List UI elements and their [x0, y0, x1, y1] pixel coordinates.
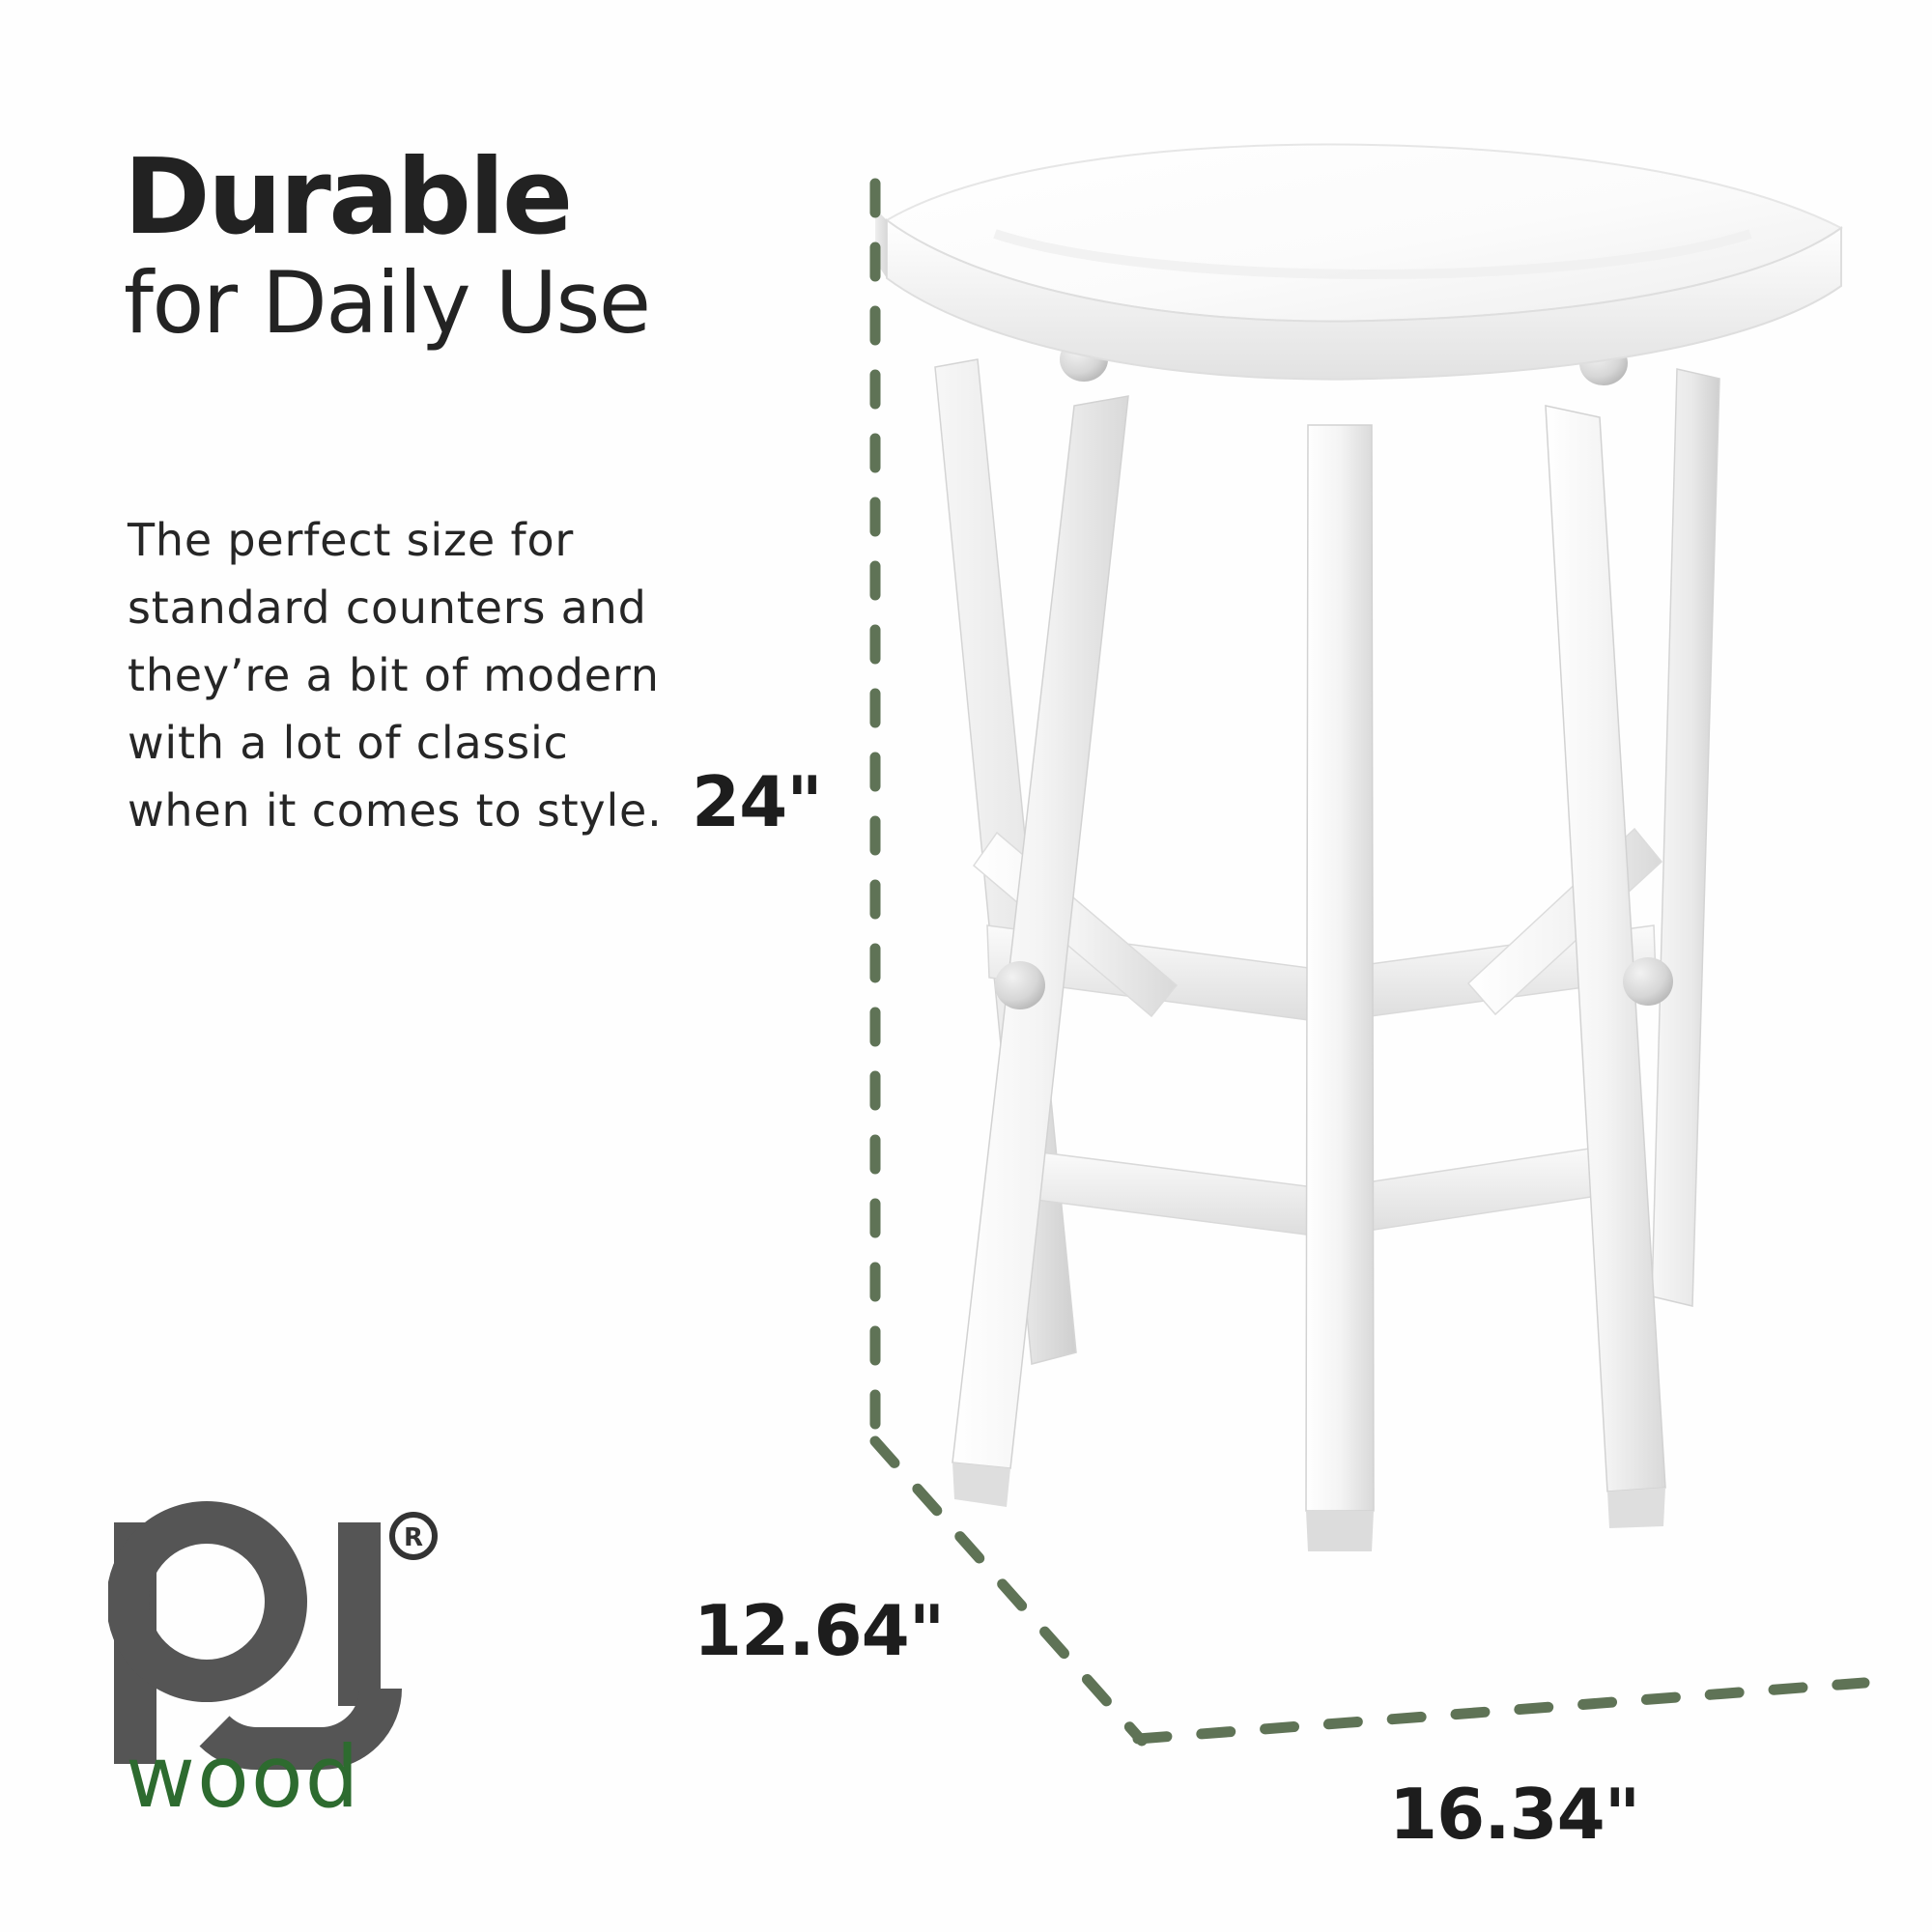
- page-subtitle: for Daily Use: [124, 257, 858, 349]
- saddle-seat: [875, 145, 1841, 380]
- logo-wordmark: wood: [126, 1727, 361, 1814]
- bolt-cap-icon: [995, 961, 1045, 1009]
- registered-trademark-icon: R: [392, 1515, 435, 1557]
- dimension-label-width: 16.34": [1389, 1774, 1639, 1855]
- dimension-label-height: 24": [692, 761, 822, 842]
- brand-logo: R wood: [108, 1495, 456, 1814]
- product-image-bar-stool: [869, 116, 1893, 1623]
- description-paragraph: The perfect size for standard counters a…: [128, 507, 668, 845]
- leg-back-right: [1652, 369, 1719, 1306]
- infographic-canvas: Durable for Daily Use The perfect size f…: [0, 0, 1932, 1932]
- dimension-line-width: [1138, 1683, 1864, 1739]
- headline-block: Durable for Daily Use: [124, 145, 858, 349]
- page-title: Durable: [124, 145, 858, 251]
- bolt-cap-icon: [1623, 957, 1673, 1006]
- svg-text:R: R: [404, 1523, 423, 1552]
- leg-front-center: [1306, 425, 1374, 1551]
- dimension-label-depth: 12.64": [694, 1590, 944, 1671]
